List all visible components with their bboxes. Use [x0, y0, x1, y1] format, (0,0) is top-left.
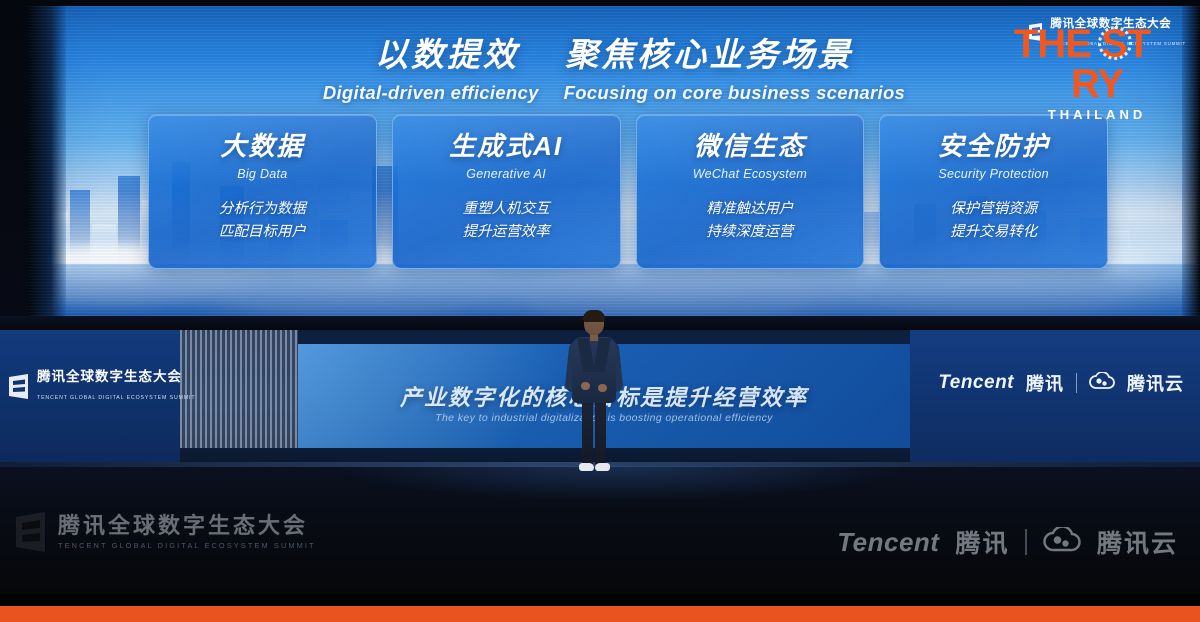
- headline-en-right: Focusing on core business scenarios: [564, 82, 906, 103]
- summit-logo-en: TENCENT GLOBAL DIGITAL ECOSYSTEM SUMMIT: [58, 541, 316, 550]
- summit-logo-cn: 腾讯全球数字生态大会: [58, 514, 316, 538]
- card-line-1: 精准触达用户: [637, 198, 864, 221]
- watermark-part-2: RY: [1071, 62, 1123, 106]
- summit-logo-text: 腾讯全球数字生态大会 TENCENT GLOBAL DIGITAL ECOSYS…: [58, 514, 316, 550]
- card-body: 保护营销资源 提升交易转化: [880, 198, 1107, 245]
- tencent-cloud-icon: [1089, 372, 1115, 395]
- card-title: 微信生态: [637, 132, 864, 161]
- card-title: 生成式AI: [393, 132, 620, 161]
- pillar-card-row: 大数据 Big Data 分析行为数据 匹配目标用户 生成式AI Generat…: [148, 114, 1108, 269]
- summit-mark-icon: [8, 374, 30, 399]
- card-body: 重塑人机交互 提升运营效率: [393, 198, 620, 245]
- tencent-cloud-icon: [1043, 527, 1081, 558]
- speaker-hand-left: [581, 382, 590, 390]
- card-subtitle: Big Data: [149, 167, 376, 181]
- summit-logo-text: 腾讯全球数字生态大会 TENCENT GLOBAL DIGITAL ECOSYS…: [37, 368, 195, 404]
- pillar-card-wechat-ecosystem: 微信生态 WeChat Ecosystem 精准触达用户 持续深度运营: [636, 114, 865, 269]
- watermark-ring-icon: [1098, 26, 1132, 60]
- card-line-2: 提升运营效率: [393, 221, 620, 244]
- thestory-thailand-watermark: THE STRY THAILAND: [1002, 24, 1192, 122]
- tencent-logo-stage-right: Tencent 腾讯 腾讯云: [938, 370, 1184, 396]
- band-right-panel: [910, 330, 1200, 462]
- tencent-wordmark-cn: 腾讯: [955, 524, 1009, 560]
- card-title: 大数据: [149, 132, 376, 161]
- card-subtitle: WeChat Ecosystem: [637, 167, 864, 181]
- tencent-cloud-cn: 腾讯云: [1127, 370, 1184, 396]
- pillar-card-big-data: 大数据 Big Data 分析行为数据 匹配目标用户: [148, 114, 377, 269]
- summit-logo-stage-left: 腾讯全球数字生态大会 TENCENT GLOBAL DIGITAL ECOSYS…: [8, 368, 195, 404]
- headline-en-left: Digital-driven efficiency: [323, 82, 539, 103]
- speaker-person: [560, 312, 628, 482]
- card-subtitle: Security Protection: [880, 167, 1107, 181]
- logo-divider: [1076, 373, 1077, 393]
- pillar-card-generative-ai: 生成式AI Generative AI 重塑人机交互 提升运营效率: [392, 114, 621, 269]
- bottom-black-strip: [0, 594, 1200, 606]
- card-line-1: 分析行为数据: [149, 198, 376, 221]
- headline-cn-left: 以数提效: [375, 36, 519, 73]
- pillar-card-security-protection: 安全防护 Security Protection 保护营销资源 提升交易转化: [879, 114, 1108, 269]
- card-body: 分析行为数据 匹配目标用户: [149, 198, 376, 245]
- card-line-1: 保护营销资源: [880, 198, 1107, 221]
- card-body: 精准触达用户 持续深度运营: [637, 198, 864, 245]
- presentation-photo: 以数提效 聚焦核心业务场景 Digital-driven efficiency …: [0, 0, 1200, 622]
- logo-divider: [1025, 529, 1027, 555]
- tencent-cloud-cn: 腾讯云: [1097, 524, 1178, 560]
- bottom-orange-bar: [0, 606, 1200, 622]
- card-line-2: 提升交易转化: [880, 221, 1107, 244]
- summit-logo-en: TENCENT GLOBAL DIGITAL ECOSYSTEM SUMMIT: [37, 395, 195, 401]
- headline-cn-right: 聚焦核心业务场景: [565, 36, 853, 73]
- summit-logo-cn: 腾讯全球数字生态大会: [37, 369, 182, 384]
- speaker-leg-right: [595, 398, 606, 466]
- tencent-wordmark-cn: 腾讯: [1026, 370, 1064, 396]
- speaker-hand-right: [598, 384, 607, 392]
- card-title: 安全防护: [880, 132, 1107, 161]
- card-line-2: 匹配目标用户: [149, 221, 376, 244]
- speaker-leg-left: [582, 398, 593, 466]
- tencent-logo-floor-right: Tencent 腾讯 腾讯云: [837, 524, 1178, 560]
- watermark-subtitle: THAILAND: [1002, 107, 1192, 122]
- speaker-shoe-right: [595, 463, 610, 471]
- summit-logo-floor-left: 腾讯全球数字生态大会 TENCENT GLOBAL DIGITAL ECOSYS…: [14, 512, 316, 552]
- card-line-1: 重塑人机交互: [393, 198, 620, 221]
- card-subtitle: Generative AI: [393, 167, 620, 181]
- speaker-shoe-left: [579, 463, 594, 471]
- tencent-wordmark: Tencent: [837, 527, 939, 558]
- summit-mark-icon: [14, 512, 48, 552]
- band-mesh-panel: [180, 330, 298, 448]
- speaker-hair: [583, 310, 605, 322]
- watermark-wordmark: THE STRY: [1002, 24, 1192, 104]
- card-line-2: 持续深度运营: [637, 221, 864, 244]
- tencent-wordmark: Tencent: [938, 372, 1014, 394]
